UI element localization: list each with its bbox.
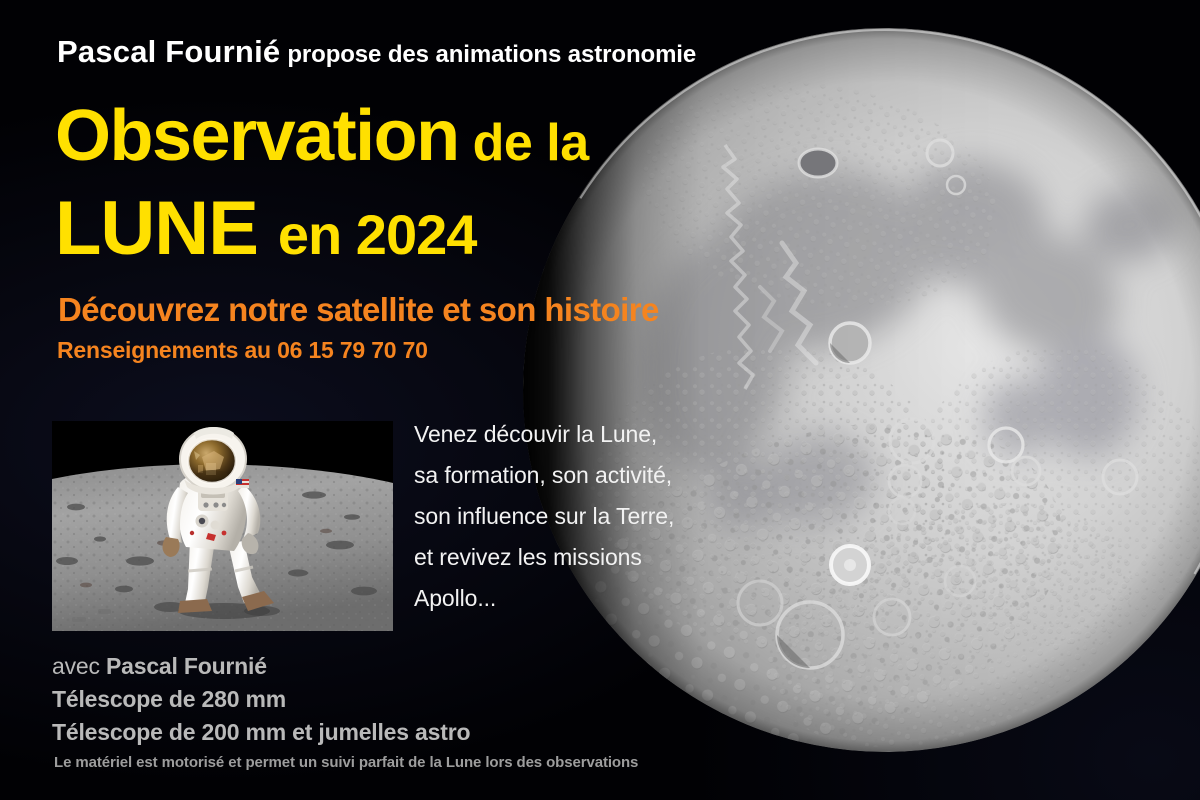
subtitle: Découvrez notre satellite et son histoir…	[58, 291, 659, 329]
presenter-kicker: Pascal Fourniépropose des animations ast…	[57, 34, 696, 70]
credit-line-telescope-280: Télescope de 280 mm	[52, 683, 470, 716]
presenter-tagline: propose des animations astronomie	[287, 41, 696, 68]
contact-phone[interactable]: Renseignements au 06 15 79 70 70	[57, 337, 428, 364]
title-en-2024: en 2024	[278, 203, 477, 266]
equipment-credits: avec Pascal Fournié Télescope de 280 mm …	[52, 650, 470, 749]
credit-host-name: Pascal Fournié	[106, 653, 267, 679]
credit-line-host: avec Pascal Fournié	[52, 650, 470, 683]
page-title-line-2: LUNEen 2024	[55, 185, 476, 272]
title-de-la: de la	[473, 114, 589, 172]
title-observation: Observation	[55, 96, 459, 176]
description-line: et revivez les missions	[414, 537, 674, 578]
fineprint-note: Le matériel est motorisé et permet un su…	[54, 754, 638, 771]
moon-photo	[520, 25, 1200, 755]
description-line: Venez découvir la Lune,	[414, 414, 674, 455]
description-line: Apollo...	[414, 578, 674, 619]
title-lune: LUNE	[55, 186, 258, 271]
astronaut-photo	[52, 421, 393, 631]
credit-line-telescope-200: Télescope de 200 mm et jumelles astro	[52, 716, 470, 749]
poster-canvas: Pascal Fourniépropose des animations ast…	[0, 0, 1200, 800]
credit-avec-label: avec	[52, 653, 100, 679]
page-title-line-1: Observationde la	[55, 95, 589, 177]
description-line: son influence sur la Terre,	[414, 496, 674, 537]
description-line: sa formation, son activité,	[414, 455, 674, 496]
description-paragraph: Venez découvir la Lune, sa formation, so…	[414, 414, 674, 619]
presenter-name: Pascal Fournié	[57, 34, 280, 69]
